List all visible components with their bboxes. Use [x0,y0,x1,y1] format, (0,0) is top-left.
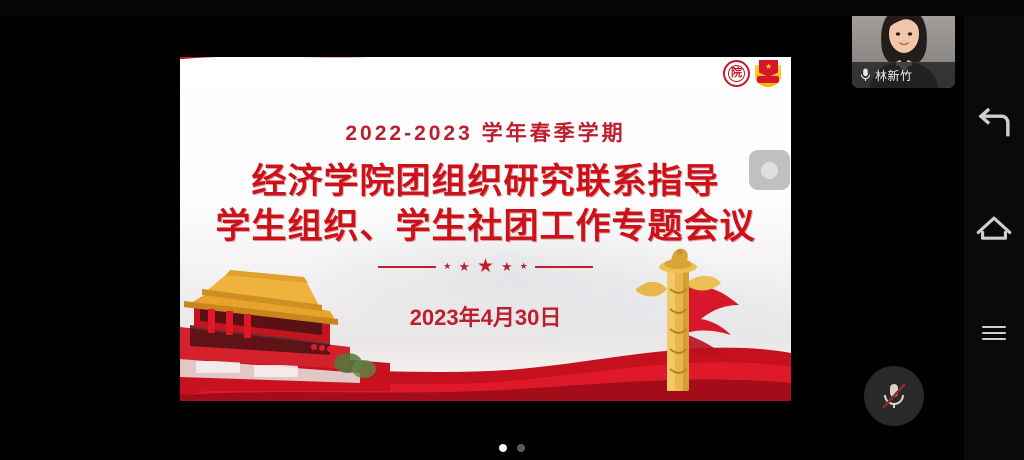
divider-star-1: ★ [443,262,451,271]
slide-date: 2023年4月30日 [180,300,791,332]
home-icon [974,211,1014,245]
divider-rule-right [535,266,593,268]
communist-youth-league-logo: ★ [755,60,781,87]
stage-floating-control[interactable] [749,150,790,190]
slide-star-divider: ★ ★ ★ ★ ★ [180,257,791,276]
menu-lines-icon [982,322,1006,344]
letterbox-right [791,0,852,460]
red-ribbon-swoosh-icon [180,57,590,99]
android-navigation-rail [964,0,1024,460]
self-view-name-bar: 林新竹 [852,62,955,88]
page-dot-2[interactable] [517,444,525,452]
nav-recents-button[interactable] [974,313,1014,353]
mute-microphone-button[interactable] [864,366,924,426]
slide-term-line: 2022-2023 学年春季学期 [180,117,791,147]
shared-screen-stage[interactable]: 院 ★ 2022-2023 学年春季学期 经济学院团组织研究联系指导 学生组织、… [180,57,791,401]
nav-back-button[interactable] [974,107,1014,147]
stage-floating-control-dot [761,162,778,179]
microphone-muted-icon [878,380,910,412]
slide-title-line-1: 经济学院团组织研究联系指导 [180,153,791,204]
back-arrow-icon [974,107,1014,147]
slide-title-line-2: 学生组织、学生社团工作专题会议 [180,198,791,249]
page-dot-1[interactable] [499,444,507,452]
divider-star-5: ★ [520,262,528,271]
slide-logos: 院 ★ [723,60,781,87]
university-seal-glyph: 院 [731,68,742,79]
page-indicator[interactable] [0,444,1024,452]
divider-star-4: ★ [501,260,513,273]
meeting-screen: 院 ★ 2022-2023 学年春季学期 经济学院团组织研究联系指导 学生组织、… [0,0,1024,460]
nav-home-button[interactable] [974,208,1014,248]
divider-star-3: ★ [477,257,494,276]
university-seal-logo: 院 [723,60,750,87]
participant-name: 林新竹 [875,67,913,84]
divider-star-2: ★ [458,260,470,273]
letterbox-left [0,0,180,460]
microphone-icon [860,68,871,82]
divider-rule-left [378,266,436,268]
status-bar [0,0,1024,16]
